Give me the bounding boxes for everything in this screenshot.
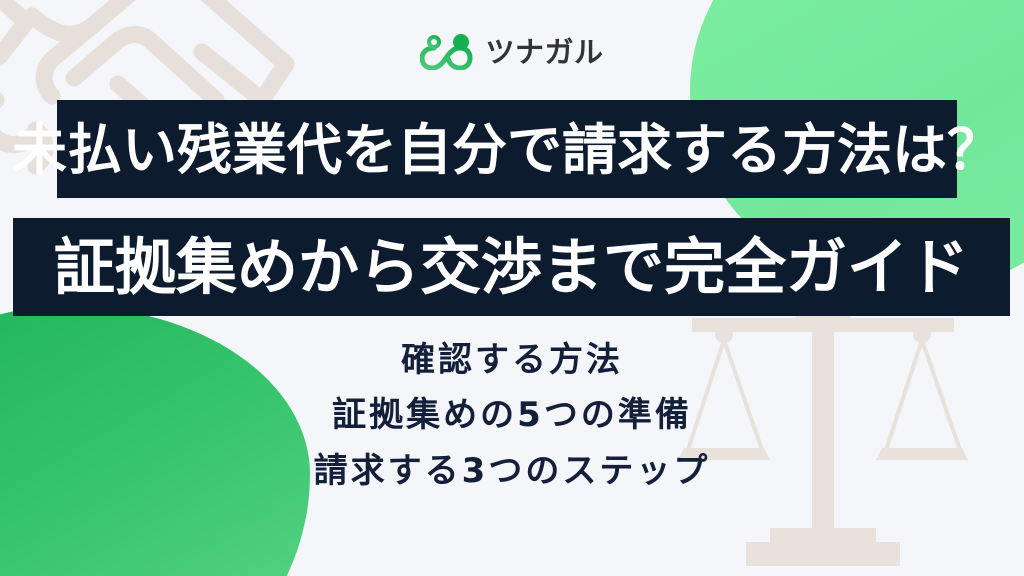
key-point-1: 確認する方法 — [401, 342, 623, 379]
brand-logo-text: ツナガル — [485, 38, 603, 67]
headline-line-2: 証拠集めから交渉まで完全ガイド — [54, 237, 969, 298]
key-point-3: 請求する3つのステップ — [314, 453, 711, 490]
brand-logo: ツナガル — [0, 34, 1024, 70]
key-point-2: 証拠集めの5つの準備 — [332, 397, 692, 434]
headline-bar-primary: 未払い残業代を自分で請求する方法は？ — [57, 100, 957, 198]
key-points-list: 確認する方法 証拠集めの5つの準備 請求する3つのステップ — [0, 342, 1024, 490]
headline-bar-secondary: 証拠集めから交渉まで完全ガイド — [13, 218, 1010, 316]
thumbnail-canvas: ツナガル 未払い残業代を自分で請求する方法は？ 証拠集めから交渉まで完全ガイド … — [0, 0, 1024, 576]
infinity-loop-icon — [420, 34, 476, 70]
headline-line-1: 未払い残業代を自分で請求する方法は？ — [12, 122, 1002, 177]
